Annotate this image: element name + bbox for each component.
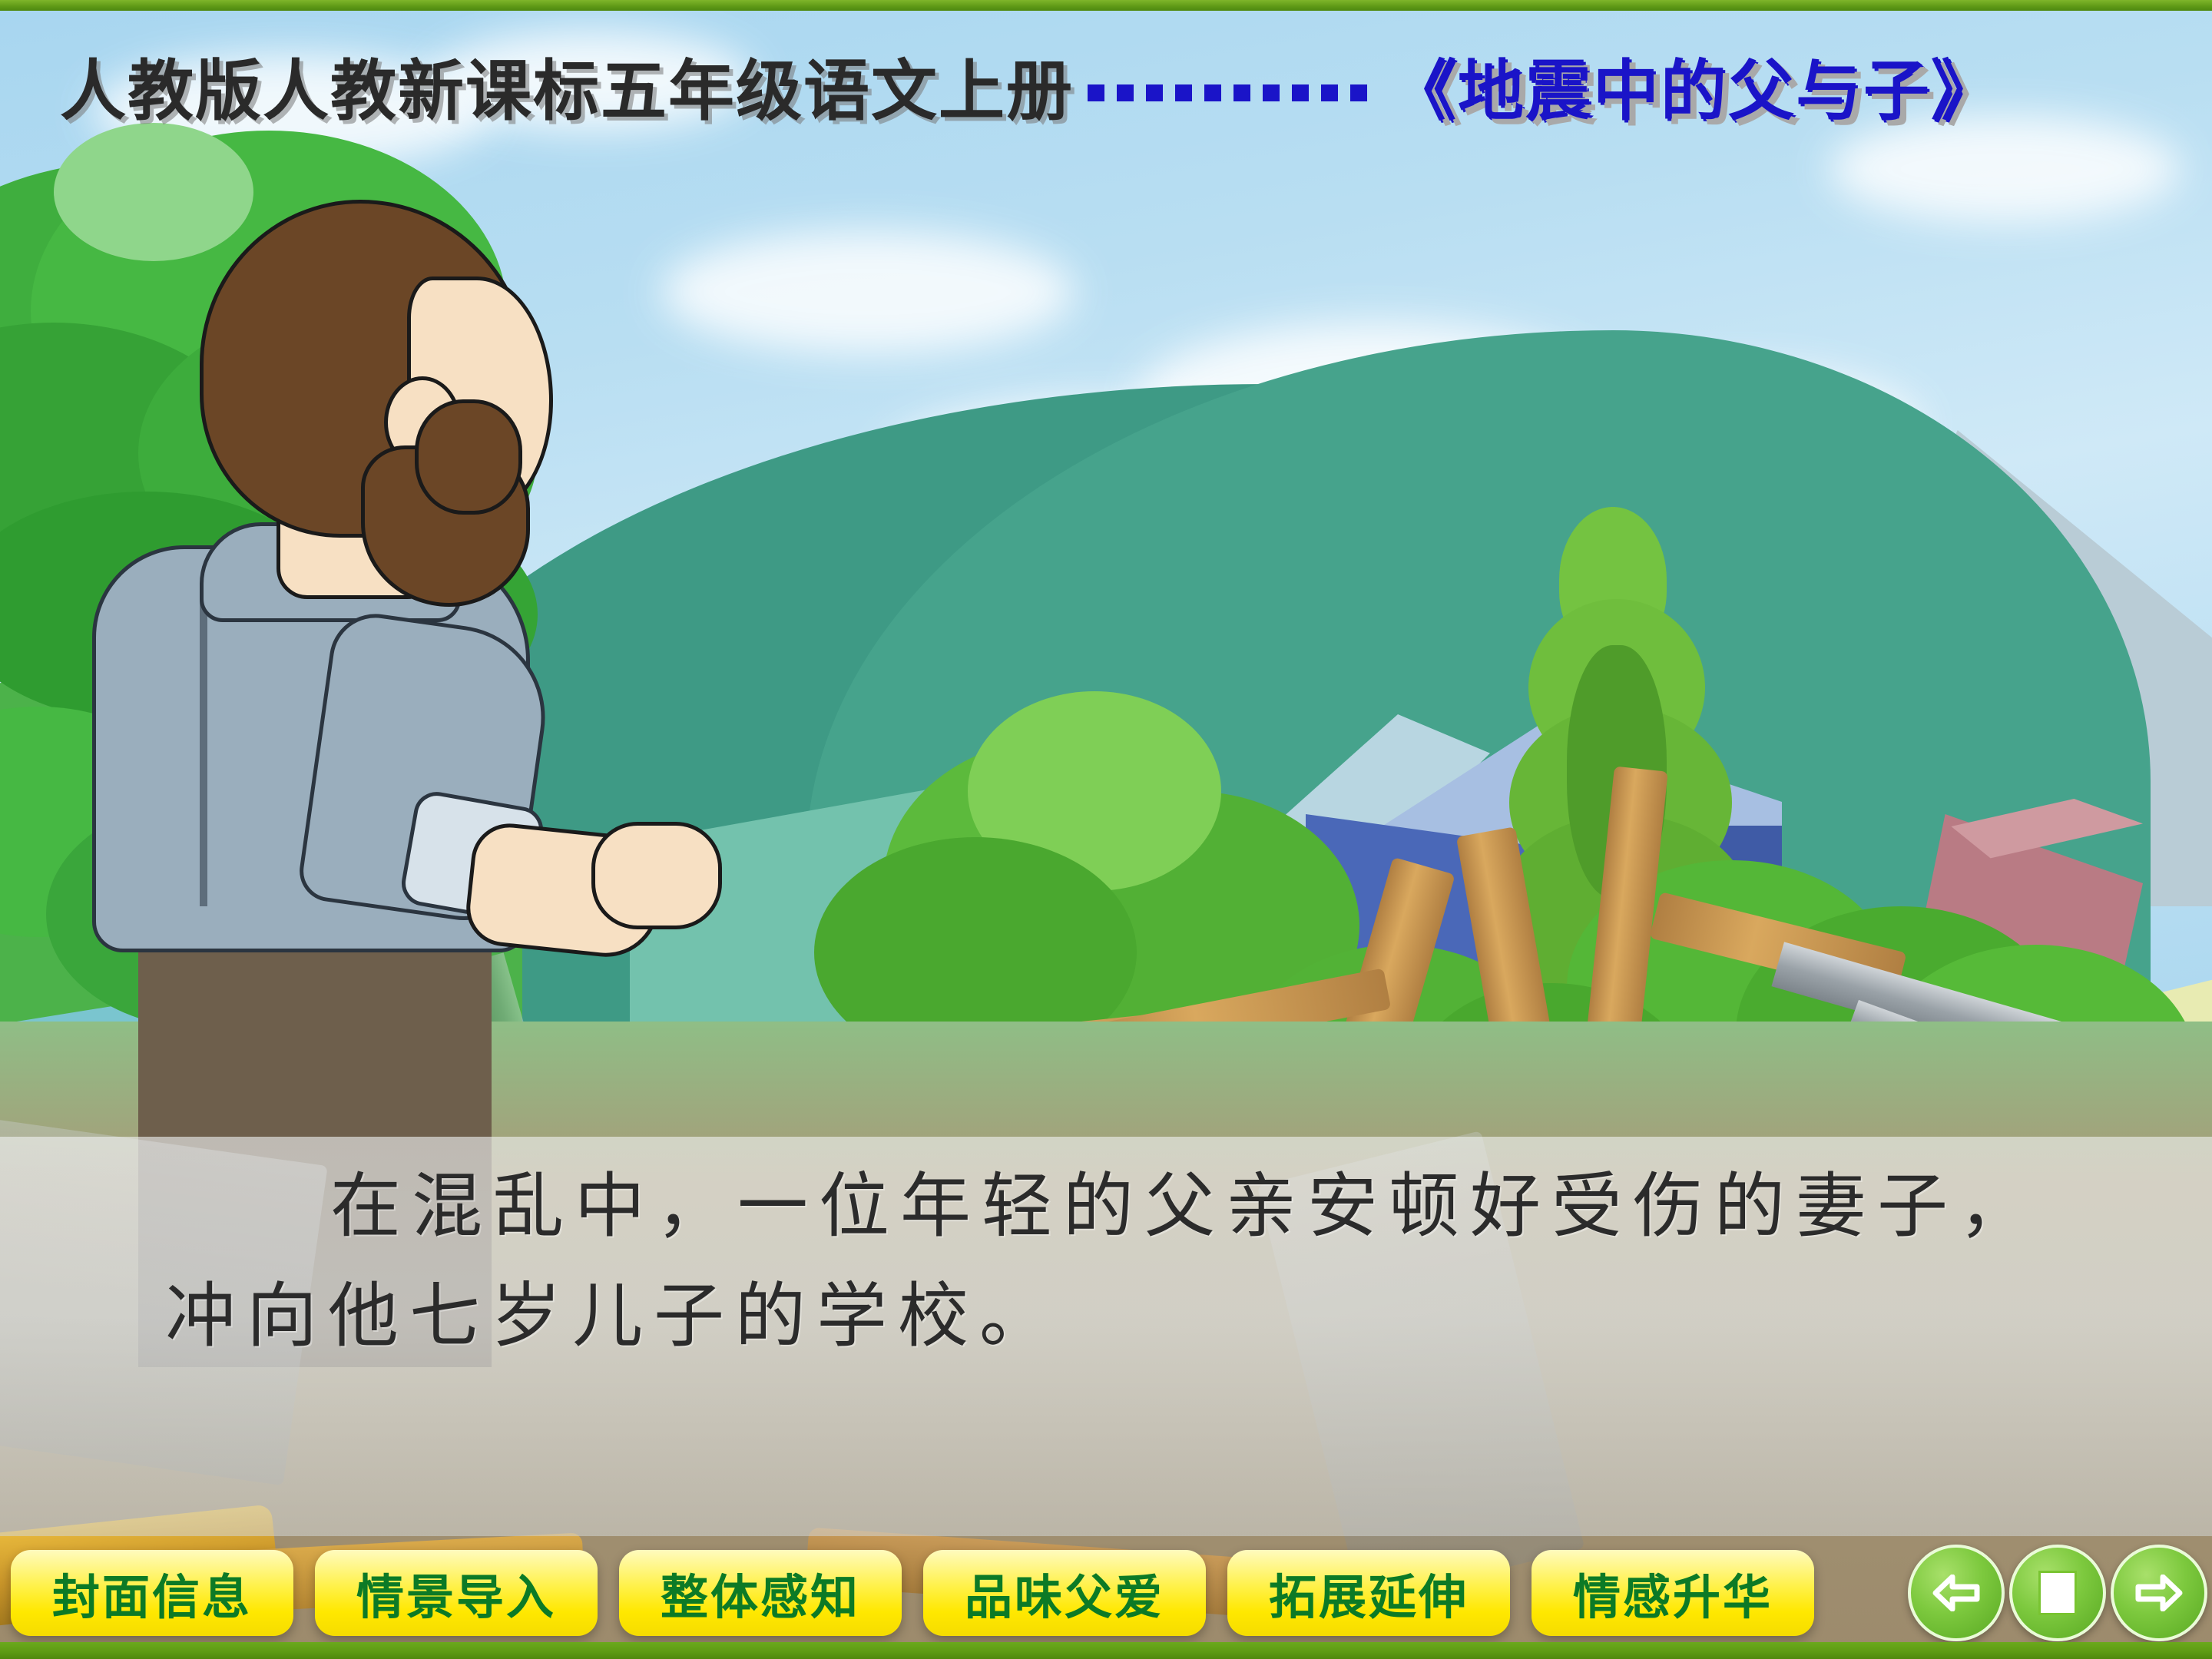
- connector-dot: [1263, 84, 1280, 101]
- stop-button[interactable]: [2009, 1545, 2106, 1641]
- playback-controls: [1903, 1545, 2207, 1641]
- top-border: [0, 0, 2212, 11]
- connector-dot: [1088, 84, 1104, 101]
- lesson-title: 《地震中的父与子》: [1390, 37, 1998, 133]
- connector-dot: [1117, 84, 1134, 101]
- nav-button-savor-fatherly-love[interactable]: 品味父爱: [923, 1550, 1206, 1636]
- nav-button-scene-intro[interactable]: 情景导入: [315, 1550, 598, 1636]
- arrow-right-icon: [2135, 1575, 2183, 1611]
- nav-button-extension[interactable]: 拓展延伸: [1227, 1550, 1510, 1636]
- connector-dot: [1146, 84, 1163, 101]
- slide-canvas: 在混乱中，一位年轻的父亲安顿好受伤的妻子， 冲向他七岁儿子的学校。 人教版人教新…: [0, 0, 2212, 1659]
- bottom-border: [0, 1642, 2212, 1659]
- nav-button-overall-perception[interactable]: 整体感知: [619, 1550, 902, 1636]
- connector-dot: [1292, 84, 1309, 101]
- slide-header: 人教版人教新课标五年级语文上册 《地震中的父与子》: [0, 31, 2212, 138]
- nav-button-cover-info[interactable]: 封面信息: [11, 1550, 293, 1636]
- connector-dot: [1350, 84, 1367, 101]
- next-slide-button[interactable]: [2111, 1545, 2207, 1641]
- connector-dot: [1321, 84, 1338, 101]
- body-line-2: 冲向他七岁儿子的学校。: [0, 1262, 2212, 1372]
- arrow-left-icon: [1932, 1575, 1980, 1611]
- connector-dot: [1204, 84, 1221, 101]
- dotted-connector: [1088, 68, 1379, 101]
- previous-slide-button[interactable]: [1908, 1545, 2005, 1641]
- connector-dot: [1233, 84, 1250, 101]
- bottom-navigation-bar: 封面信息 情景导入 整体感知 品味父爱 拓展延伸 情感升华: [0, 1544, 2212, 1642]
- stop-square-icon: [2038, 1571, 2077, 1615]
- slide-body-text: 在混乱中，一位年轻的父亲安顿好受伤的妻子， 冲向他七岁儿子的学校。: [0, 1152, 2212, 1371]
- textbook-title: 人教版人教新课标五年级语文上册: [60, 37, 1074, 133]
- body-line-1: 在混乱中，一位年轻的父亲安顿好受伤的妻子，: [0, 1152, 2212, 1262]
- connector-dot: [1175, 84, 1192, 101]
- nav-button-emotional-sublimation[interactable]: 情感升华: [1532, 1550, 1814, 1636]
